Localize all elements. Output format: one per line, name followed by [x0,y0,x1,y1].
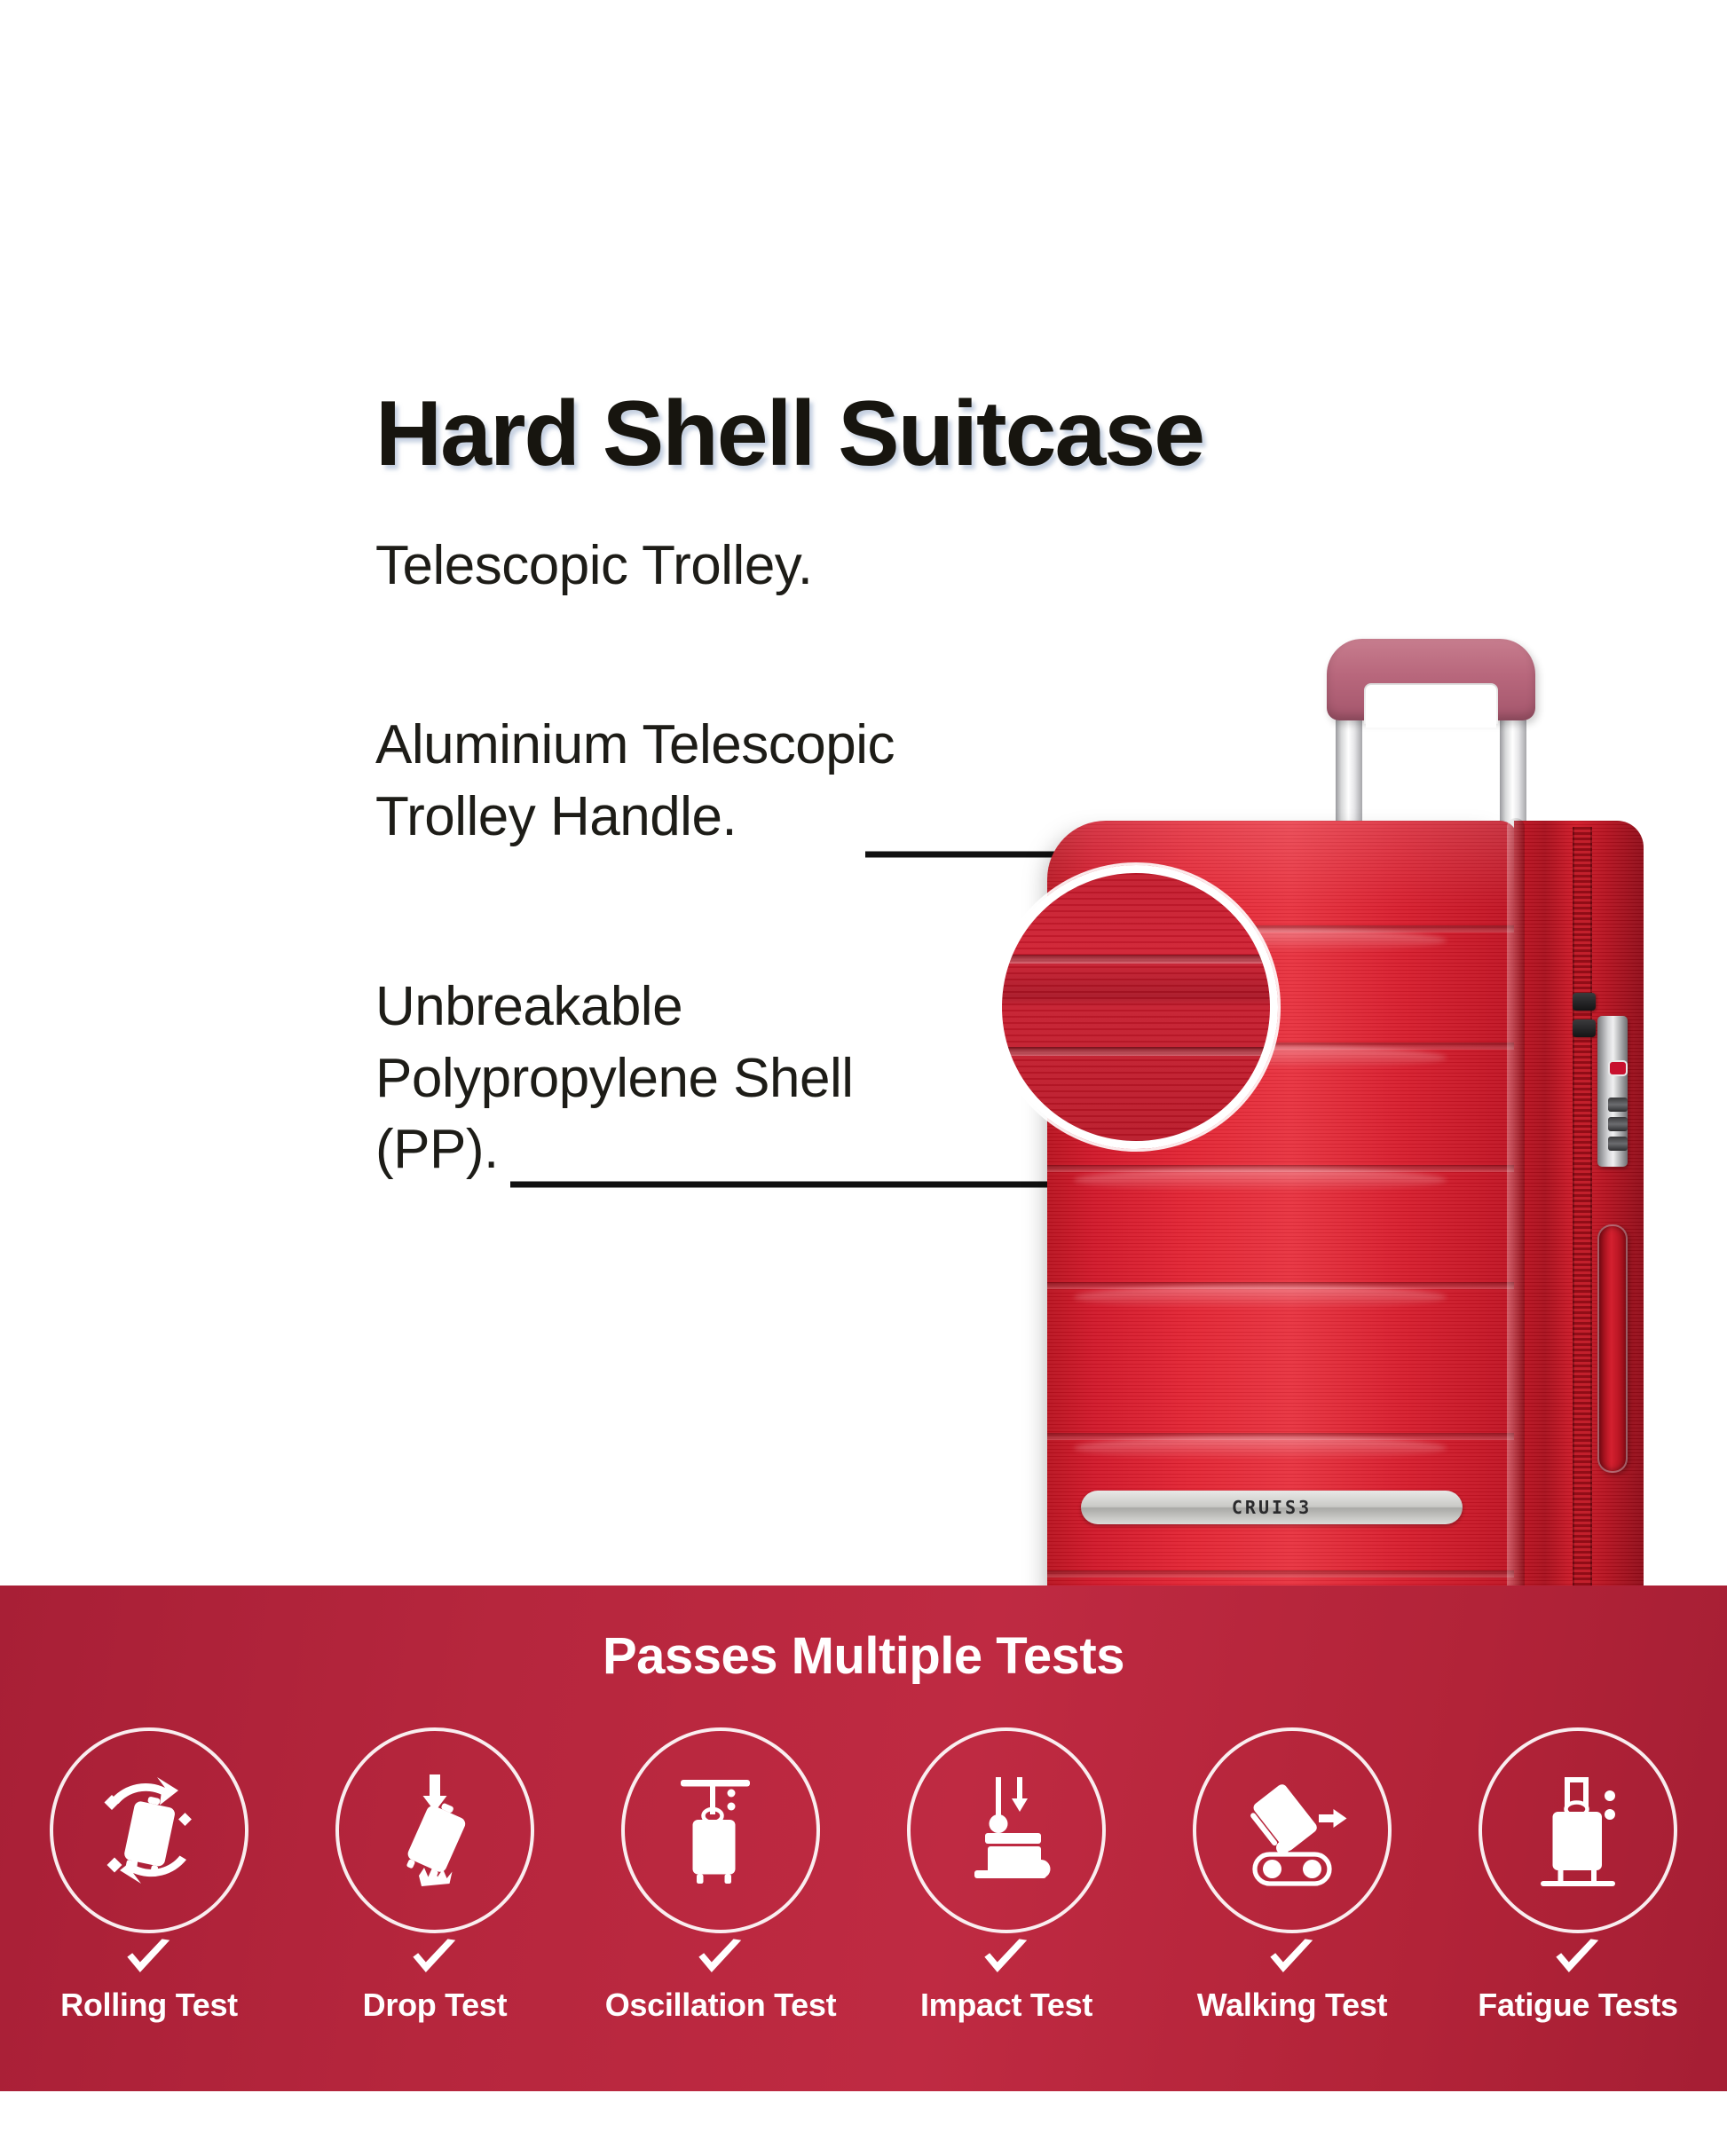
magnifier-band [1002,1047,1278,1056]
tsa-dial [1608,1117,1628,1131]
checkmark-icon [123,1935,175,1987]
product-info-panel: Hard Shell Suitcase Telescopic Trolley. … [0,0,1727,1586]
magnifier-band [1002,955,1278,964]
checkmark-icon [409,1935,461,1987]
oscillation-test-icon [621,1727,820,1933]
feature-text-telescopic-trolley: Telescopic Trolley. [375,531,812,602]
zipper-pull [1573,993,1596,1011]
feature-text-polypropylene-shell: Unbreakable Polypropylene Shell (PP). [375,972,854,1186]
test-item-walking[interactable]: Walking Test [1155,1727,1429,2082]
magnifier-circle-icon [994,865,1278,1149]
checkmark-icon [981,1935,1032,1987]
test-item-rolling[interactable]: Rolling Test [12,1727,286,2082]
test-item-oscillation[interactable]: Oscillation Test [584,1727,857,2082]
test-label-oscillation: Oscillation Test [605,1987,837,2024]
tsa-lock-body [1597,1016,1628,1167]
test-item-fatigue[interactable]: Fatigue Tests [1441,1727,1715,2082]
test-label-rolling: Rolling Test [60,1987,238,2024]
walking-test-icon [1193,1727,1392,1933]
handle-grip-inner [1364,683,1498,724]
tsa-dial [1608,1137,1628,1151]
tsa-dial [1608,1098,1628,1112]
banner-title: Passes Multiple Tests [0,1626,1727,1686]
test-label-walking: Walking Test [1197,1987,1387,2024]
zipper-pull [1573,1019,1596,1037]
test-item-drop[interactable]: Drop Test [298,1727,572,2082]
test-label-fatigue: Fatigue Tests [1478,1987,1677,2024]
shell-sheen [1074,1286,1447,1309]
checkmark-icon [695,1935,746,1987]
shell-sheen [1074,1436,1447,1460]
telescopic-handle-icon [1327,639,1535,834]
tests-banner: Passes Multiple Tests Rol [0,1586,1727,2091]
handle-grip [1327,639,1535,720]
feature-text-aluminium-handle: Aluminium Telescopic Trolley Handle. [375,710,895,853]
fatigue-test-icon [1479,1727,1677,1933]
shell-edge-ridge [1507,818,1525,1586]
page-title: Hard Shell Suitcase [375,382,1203,487]
brand-plate: CRUIS3 [1081,1491,1463,1524]
tsa-lock-icon [1592,989,1635,1167]
tests-row: Rolling Test Dro [0,1727,1727,2082]
test-label-drop: Drop Test [363,1987,508,2024]
drop-test-icon [335,1727,534,1933]
shell-band [1047,1570,1518,1578]
zipper-icon [1573,827,1592,1586]
tsa-badge [1610,1062,1626,1074]
rolling-test-icon [50,1727,248,1933]
shell-sheen [1074,1168,1447,1192]
checkmark-icon [1552,1935,1604,1987]
test-item-impact[interactable]: Impact Test [870,1727,1143,2082]
test-label-impact: Impact Test [920,1987,1092,2024]
impact-test-icon [907,1727,1106,1933]
brand-name: CRUIS3 [1232,1497,1312,1518]
checkmark-icon [1266,1935,1318,1987]
side-grab-handle-icon [1597,1224,1628,1473]
